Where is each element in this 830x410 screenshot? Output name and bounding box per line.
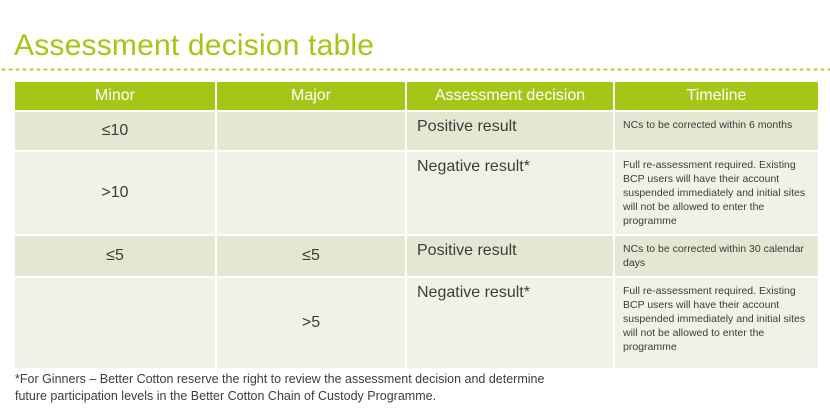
cell-minor xyxy=(15,278,215,368)
table-row: >10 Negative result* Full re-assessment … xyxy=(15,152,818,234)
assessment-decision-page: Assessment decision table Minor Major As… xyxy=(0,0,830,410)
assessment-decision-table: Minor Major Assessment decision Timeline… xyxy=(13,80,820,370)
cell-decision: Positive result xyxy=(407,112,613,150)
cell-major: >5 xyxy=(217,278,405,368)
cell-major xyxy=(217,152,405,234)
page-title: Assessment decision table xyxy=(14,24,374,68)
footnote: *For Ginners – Better Cotton reserve the… xyxy=(15,371,575,405)
table-row: ≤5 ≤5 Positive result NCs to be correcte… xyxy=(15,236,818,276)
column-header-major: Major xyxy=(217,82,405,110)
cell-minor: ≤10 xyxy=(15,112,215,150)
cell-minor: ≤5 xyxy=(15,236,215,276)
cell-timeline: NCs to be corrected within 30 calendar d… xyxy=(615,236,818,276)
cell-timeline: Full re-assessment required. Existing BC… xyxy=(615,152,818,234)
dotted-divider xyxy=(0,68,830,71)
cell-timeline: NCs to be corrected within 6 months xyxy=(615,112,818,150)
cell-major xyxy=(217,112,405,150)
table-row: ≤10 Positive result NCs to be corrected … xyxy=(15,112,818,150)
cell-minor: >10 xyxy=(15,152,215,234)
table-body: ≤10 Positive result NCs to be corrected … xyxy=(15,112,818,368)
table-row: >5 Negative result* Full re-assessment r… xyxy=(15,278,818,368)
cell-decision: Positive result xyxy=(407,236,613,276)
column-header-decision: Assessment decision xyxy=(407,82,613,110)
column-header-timeline: Timeline xyxy=(615,82,818,110)
table-header-row: Minor Major Assessment decision Timeline xyxy=(15,82,818,110)
cell-decision: Negative result* xyxy=(407,278,613,368)
cell-decision: Negative result* xyxy=(407,152,613,234)
cell-major: ≤5 xyxy=(217,236,405,276)
cell-timeline: Full re-assessment required. Existing BC… xyxy=(615,278,818,368)
table-header: Minor Major Assessment decision Timeline xyxy=(15,82,818,110)
column-header-minor: Minor xyxy=(15,82,215,110)
